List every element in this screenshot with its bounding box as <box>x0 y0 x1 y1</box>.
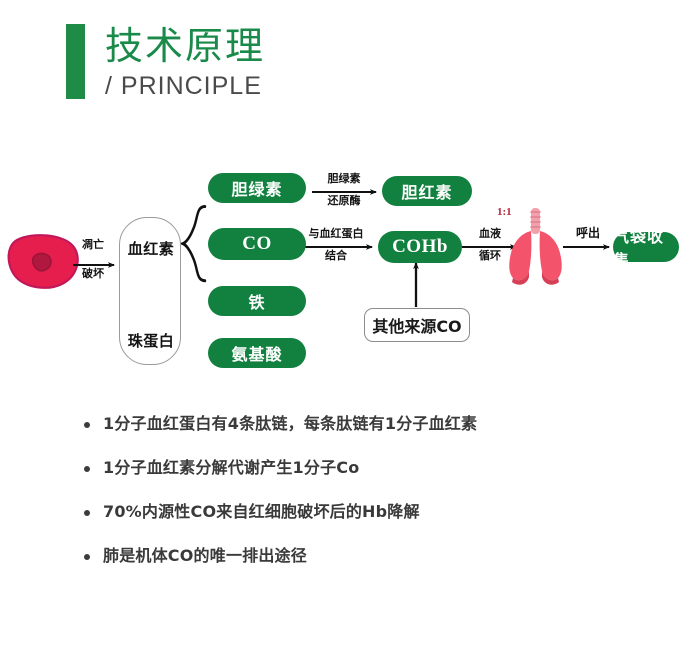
red-blood-cell-icon <box>9 235 78 288</box>
principle-flow-diagram: 血红素 珠蛋白 胆绿素 CO 铁 氨基酸 胆红素 COHb 气袋收集 其他来源C… <box>0 155 680 385</box>
bullet-dot-icon <box>84 422 90 428</box>
ratio-label: 1:1 <box>497 206 512 218</box>
node-biliverdin[interactable]: 胆绿素 <box>208 173 306 203</box>
globin-label: 珠蛋白 <box>120 330 182 351</box>
bullet-dot-icon <box>84 554 90 560</box>
node-cohb[interactable]: COHb <box>378 231 462 263</box>
node-iron[interactable]: 铁 <box>208 286 306 316</box>
list-item-text: 肺是机体CO的唯一排出途径 <box>103 545 307 567</box>
arrow-label-cohb-top: 与血红蛋白 <box>300 227 372 240</box>
arrow-label-apoptosis-top: 凋亡 <box>71 238 115 251</box>
arrow-label-biliverdin-bottom: 还原酶 <box>312 194 376 207</box>
node-bilirubin[interactable]: 胆红素 <box>382 176 472 206</box>
arrow-label-apoptosis-bottom: 破坏 <box>71 267 115 280</box>
page-subtitle: / PRINCIPLE <box>105 70 265 102</box>
arrow-label-blood-bottom: 循环 <box>466 249 514 262</box>
hemoglobin-box: 血红素 珠蛋白 <box>119 217 181 365</box>
page-title: 技术原理 <box>105 24 265 68</box>
list-item: 1分子血红素分解代谢产生1分子Co <box>84 457 624 479</box>
lungs-icon <box>509 208 561 285</box>
node-co[interactable]: CO <box>208 228 306 260</box>
node-amino-acid[interactable]: 氨基酸 <box>208 338 306 368</box>
list-item-text: 1分子血红素分解代谢产生1分子Co <box>103 457 359 479</box>
node-gas-bag-collection[interactable]: 气袋收集 <box>613 232 679 262</box>
heme-label: 血红素 <box>120 238 182 259</box>
arrow-label-biliverdin-top: 胆绿素 <box>312 172 376 185</box>
bullet-dot-icon <box>84 466 90 472</box>
arrow-label-cohb-bottom: 结合 <box>300 249 372 262</box>
bullet-dot-icon <box>84 510 90 516</box>
title-block: 技术原理 / PRINCIPLE <box>105 24 265 102</box>
page-header: 技术原理 / PRINCIPLE <box>66 24 265 102</box>
arrow-label-exhale: 呼出 <box>568 227 608 240</box>
bullet-list: 1分子血红蛋白有4条肽链，每条肽链有1分子血红素 1分子血红素分解代谢产生1分子… <box>84 413 624 589</box>
accent-bar <box>66 24 85 99</box>
list-item: 肺是机体CO的唯一排出途径 <box>84 545 624 567</box>
list-item-text: 70%内源性CO来自红细胞破坏后的Hb降解 <box>103 501 420 523</box>
node-other-source-co[interactable]: 其他来源CO <box>364 308 470 342</box>
list-item-text: 1分子血红蛋白有4条肽链，每条肽链有1分子血红素 <box>103 413 477 435</box>
list-item: 1分子血红蛋白有4条肽链，每条肽链有1分子血红素 <box>84 413 624 435</box>
arrow-label-blood-top: 血液 <box>466 227 514 240</box>
list-item: 70%内源性CO来自红细胞破坏后的Hb降解 <box>84 501 624 523</box>
